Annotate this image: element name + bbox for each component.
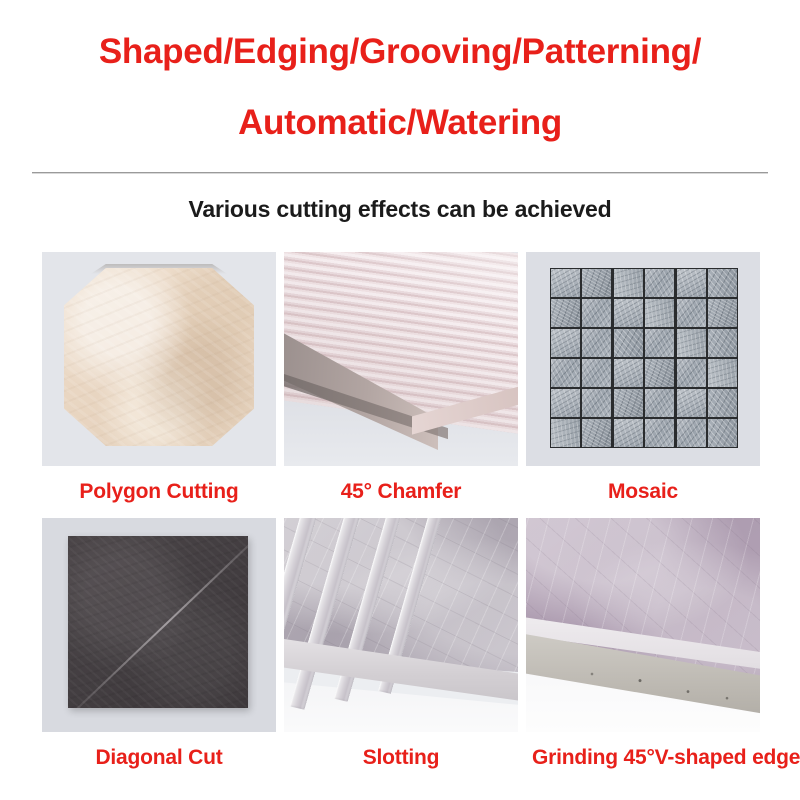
mosaic-chip xyxy=(708,299,737,327)
mosaic-chip xyxy=(614,359,643,387)
mosaic-chip xyxy=(614,419,643,447)
mosaic-chip xyxy=(645,269,674,297)
page-title-line-2: Automatic/Watering xyxy=(0,105,800,140)
mosaic-chip xyxy=(708,329,737,357)
mosaic-chip xyxy=(551,299,580,327)
mosaic-chip xyxy=(677,419,706,447)
mosaic-chip xyxy=(614,299,643,327)
mosaic-grid xyxy=(550,268,738,448)
page-subtitle: Various cutting effects can be achieved xyxy=(0,196,800,223)
gallery-cell-diagonal-cut[interactable]: Diagonal Cut xyxy=(42,518,276,784)
gallery-cell-polygon-cutting[interactable]: Polygon Cutting xyxy=(42,252,276,518)
gallery-cell-45-chamfer[interactable]: 45° Chamfer xyxy=(284,252,518,518)
mosaic-chip xyxy=(551,329,580,357)
caption-mosaic: Mosaic xyxy=(526,466,760,518)
caption-grinding-v-shaped-edge: Grinding 45°V-shaped edge xyxy=(532,732,800,784)
gallery-cell-grinding-v-shaped-edge[interactable]: Grinding 45°V-shaped edge xyxy=(526,518,760,784)
mosaic-chip xyxy=(614,269,643,297)
mosaic-chip xyxy=(551,359,580,387)
grey-marble-slab-with-slots-image xyxy=(284,518,518,732)
mosaic-chip xyxy=(551,269,580,297)
dark-grey-square-tile-diagonal-cut-image xyxy=(42,518,276,732)
mosaic-chip xyxy=(614,329,643,357)
page-header: Shaped/Edging/Grooving/Patterning/ Autom… xyxy=(0,0,800,223)
ribbed-pink-tile-chamfered-edge-image xyxy=(284,252,518,466)
octagon-tile-shape xyxy=(64,268,254,446)
octagonal-beige-travertine-tile-image xyxy=(42,252,276,466)
mosaic-chip xyxy=(708,269,737,297)
grey-stone-mosaic-grid-tile-image xyxy=(526,252,760,466)
caption-slotting: Slotting xyxy=(284,732,518,784)
cutting-effects-gallery: Polygon Cutting 45° Chamfer xyxy=(42,252,760,784)
gallery-cell-mosaic[interactable]: Mosaic xyxy=(526,252,760,518)
mosaic-chip xyxy=(645,389,674,417)
mosaic-chip xyxy=(582,389,611,417)
purple-marble-slab-v-bevel-edge-image xyxy=(526,518,760,732)
diagonal-cut-line xyxy=(68,536,248,708)
mosaic-chip xyxy=(677,299,706,327)
header-divider xyxy=(32,172,768,174)
gallery-row: Polygon Cutting 45° Chamfer xyxy=(42,252,760,518)
mosaic-chip xyxy=(708,419,737,447)
gallery-row: Diagonal Cut Slotting Grinding 45°V-sha xyxy=(42,518,760,784)
caption-45-chamfer: 45° Chamfer xyxy=(284,466,518,518)
mosaic-chip xyxy=(645,329,674,357)
mosaic-chip xyxy=(582,329,611,357)
mosaic-chip xyxy=(677,389,706,417)
mosaic-chip xyxy=(582,269,611,297)
mosaic-chip xyxy=(645,299,674,327)
mosaic-chip xyxy=(677,269,706,297)
caption-polygon-cutting: Polygon Cutting xyxy=(42,466,276,518)
mosaic-chip xyxy=(677,329,706,357)
mosaic-chip xyxy=(551,389,580,417)
mosaic-chip xyxy=(645,359,674,387)
caption-diagonal-cut: Diagonal Cut xyxy=(42,732,276,784)
mosaic-chip xyxy=(677,359,706,387)
mosaic-chip xyxy=(582,419,611,447)
mosaic-chip xyxy=(708,389,737,417)
mosaic-chip xyxy=(708,359,737,387)
page-title-line-1: Shaped/Edging/Grooving/Patterning/ xyxy=(0,34,800,69)
mosaic-chip xyxy=(614,389,643,417)
mosaic-chip xyxy=(582,359,611,387)
gallery-cell-slotting[interactable]: Slotting xyxy=(284,518,518,784)
mosaic-chip xyxy=(582,299,611,327)
mosaic-chip xyxy=(645,419,674,447)
mosaic-chip xyxy=(551,419,580,447)
